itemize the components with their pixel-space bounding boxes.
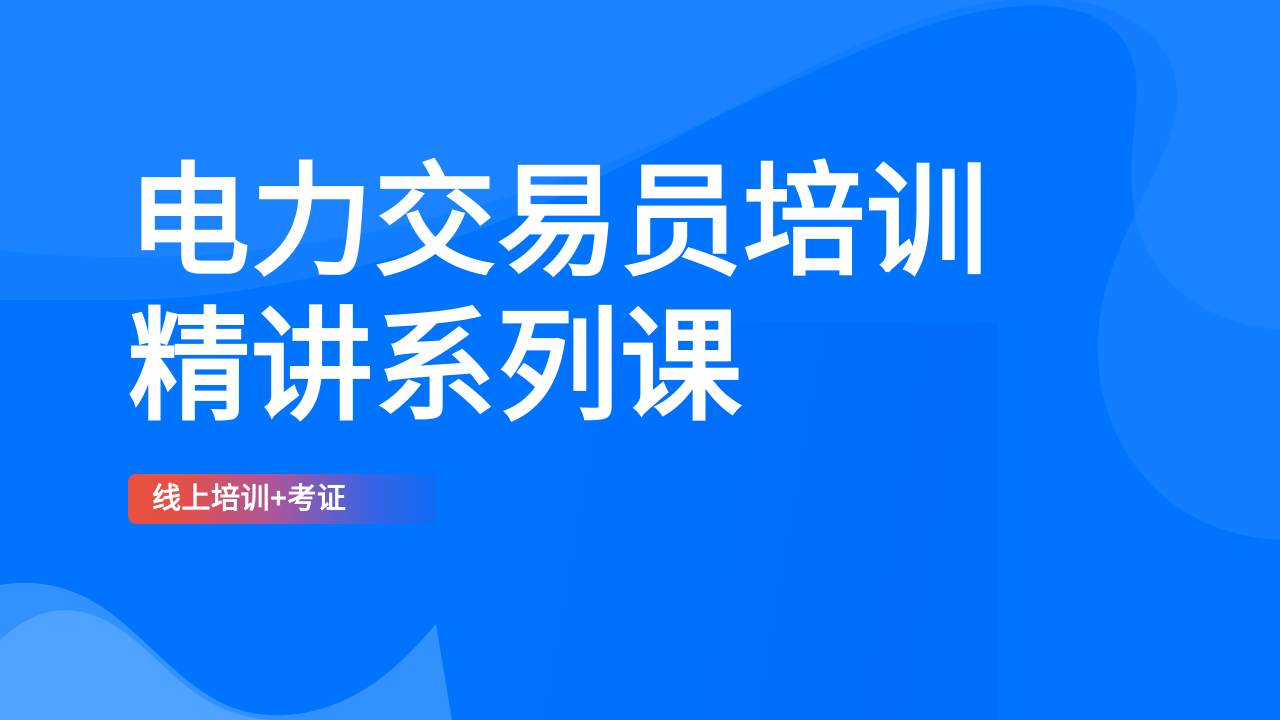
status-badge: 线上培训+考证 [128,474,437,524]
headline-line-1: 电力交易员培训 [128,150,1028,295]
poster-content: 电力交易员培训 精讲系列课 线上培训+考证 [128,150,1028,524]
headline-line-2: 精讲系列课 [128,295,1028,440]
page-title: 电力交易员培训 精讲系列课 [128,150,1028,440]
course-promo-poster: 电力交易员培训 精讲系列课 线上培训+考证 [0,0,1280,720]
